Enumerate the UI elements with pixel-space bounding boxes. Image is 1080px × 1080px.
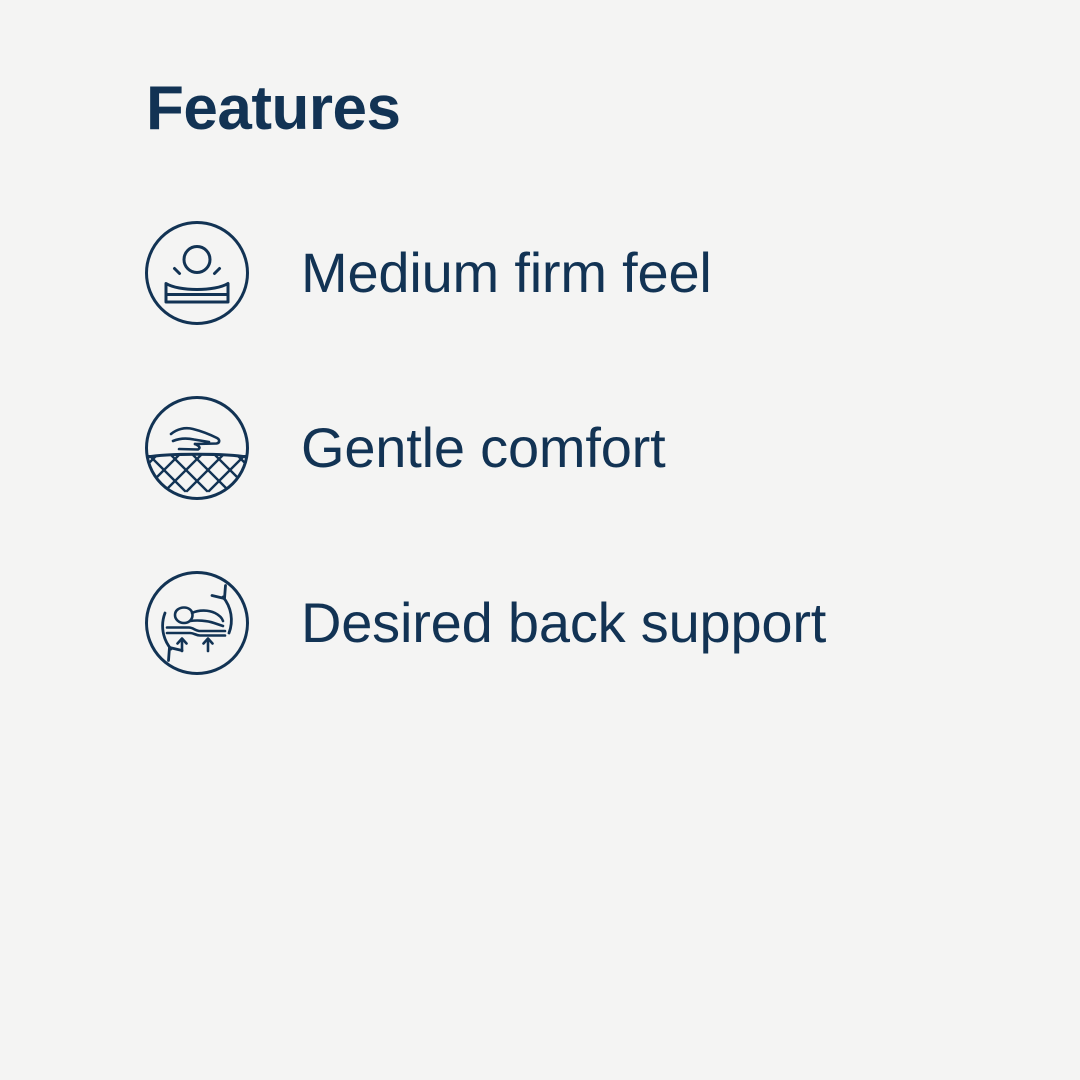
feature-label: Medium firm feel bbox=[301, 244, 712, 303]
hand-over-quilted-surface-icon bbox=[145, 396, 249, 500]
feature-list: Medium firm feel bbox=[145, 221, 1025, 675]
ball-on-mattress-firmness-icon bbox=[145, 221, 249, 325]
feature-label: Gentle comfort bbox=[301, 419, 665, 478]
sleeper-back-support-rotation-icon bbox=[145, 571, 249, 675]
feature-item-desired-back-support: Desired back support bbox=[145, 571, 1025, 675]
page-title: Features bbox=[146, 78, 400, 140]
feature-label: Desired back support bbox=[301, 594, 826, 653]
feature-item-gentle-comfort: Gentle comfort bbox=[145, 396, 1025, 500]
features-panel: Features Medium firm feel bbox=[0, 0, 1080, 1080]
feature-item-medium-firm-feel: Medium firm feel bbox=[145, 221, 1025, 325]
